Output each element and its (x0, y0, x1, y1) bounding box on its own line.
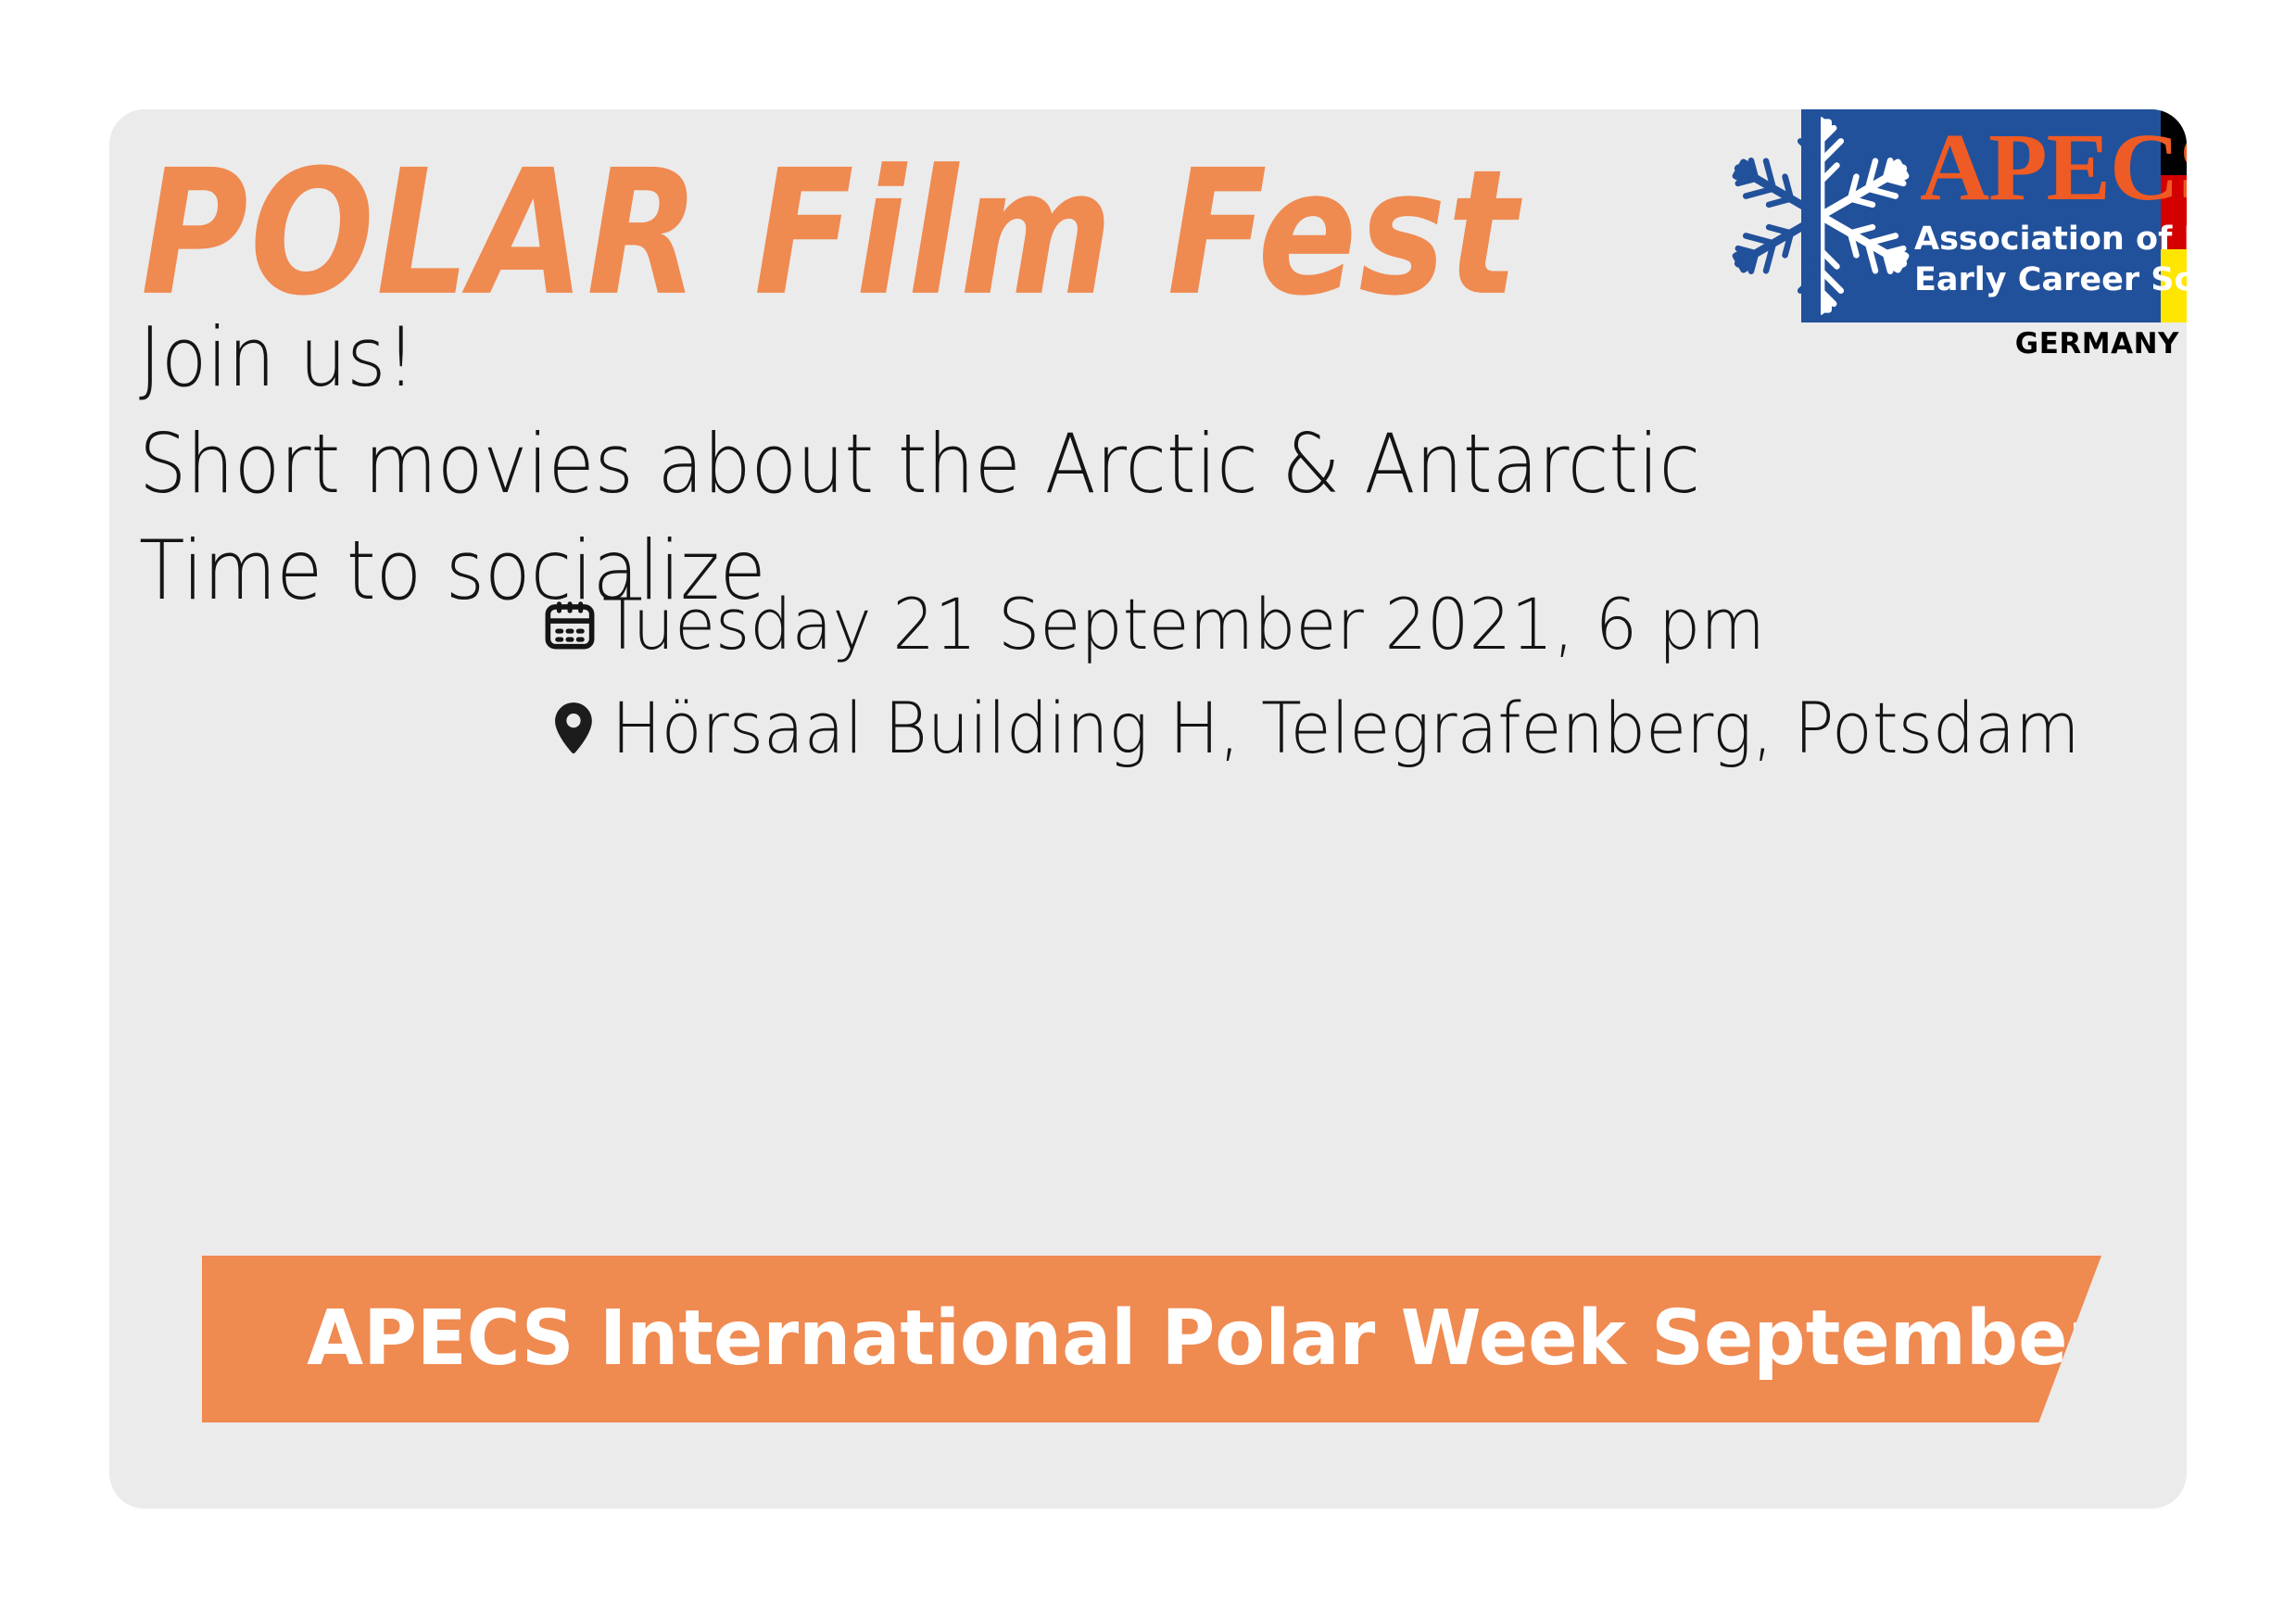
event-location-text: Hörsaal Building H, Telegrafenberg, Pots… (612, 686, 2080, 771)
polar-week-banner: APECS International Polar Week September… (202, 1256, 2101, 1422)
event-location-row: Hörsaal Building H, Telegrafenberg, Pots… (545, 676, 2176, 780)
banner-shape: APECS International Polar Week September… (202, 1256, 2101, 1422)
logo-acronym: APECS (1920, 111, 2159, 224)
event-date-text: Tuesday 21 September 2021, 6 pm (602, 582, 1765, 667)
poster-canvas: APECS Association of Polar Early Career … (0, 0, 2296, 1618)
event-details: Tuesday 21 September 2021, 6 pm Hörsaal … (545, 573, 2176, 780)
body-line-short-movies: Short movies about the Arctic & Antarcti… (139, 411, 1998, 517)
location-pin-icon (545, 695, 612, 762)
calendar-icon (545, 591, 602, 658)
logo-subtitle-line2: Early Career Scientists (1914, 259, 2159, 300)
logo-subtitle-line1: Association of Polar (1914, 219, 2159, 259)
event-date-row: Tuesday 21 September 2021, 6 pm (545, 573, 2176, 676)
logo-subtitle: Association of Polar Early Career Scient… (1914, 219, 2159, 300)
body-line-join-us: Join us! (139, 304, 1998, 411)
snowflake-icon (1720, 115, 1922, 317)
poster-card: APECS Association of Polar Early Career … (109, 109, 2187, 1509)
banner-text: APECS International Polar Week September… (202, 1295, 2187, 1384)
